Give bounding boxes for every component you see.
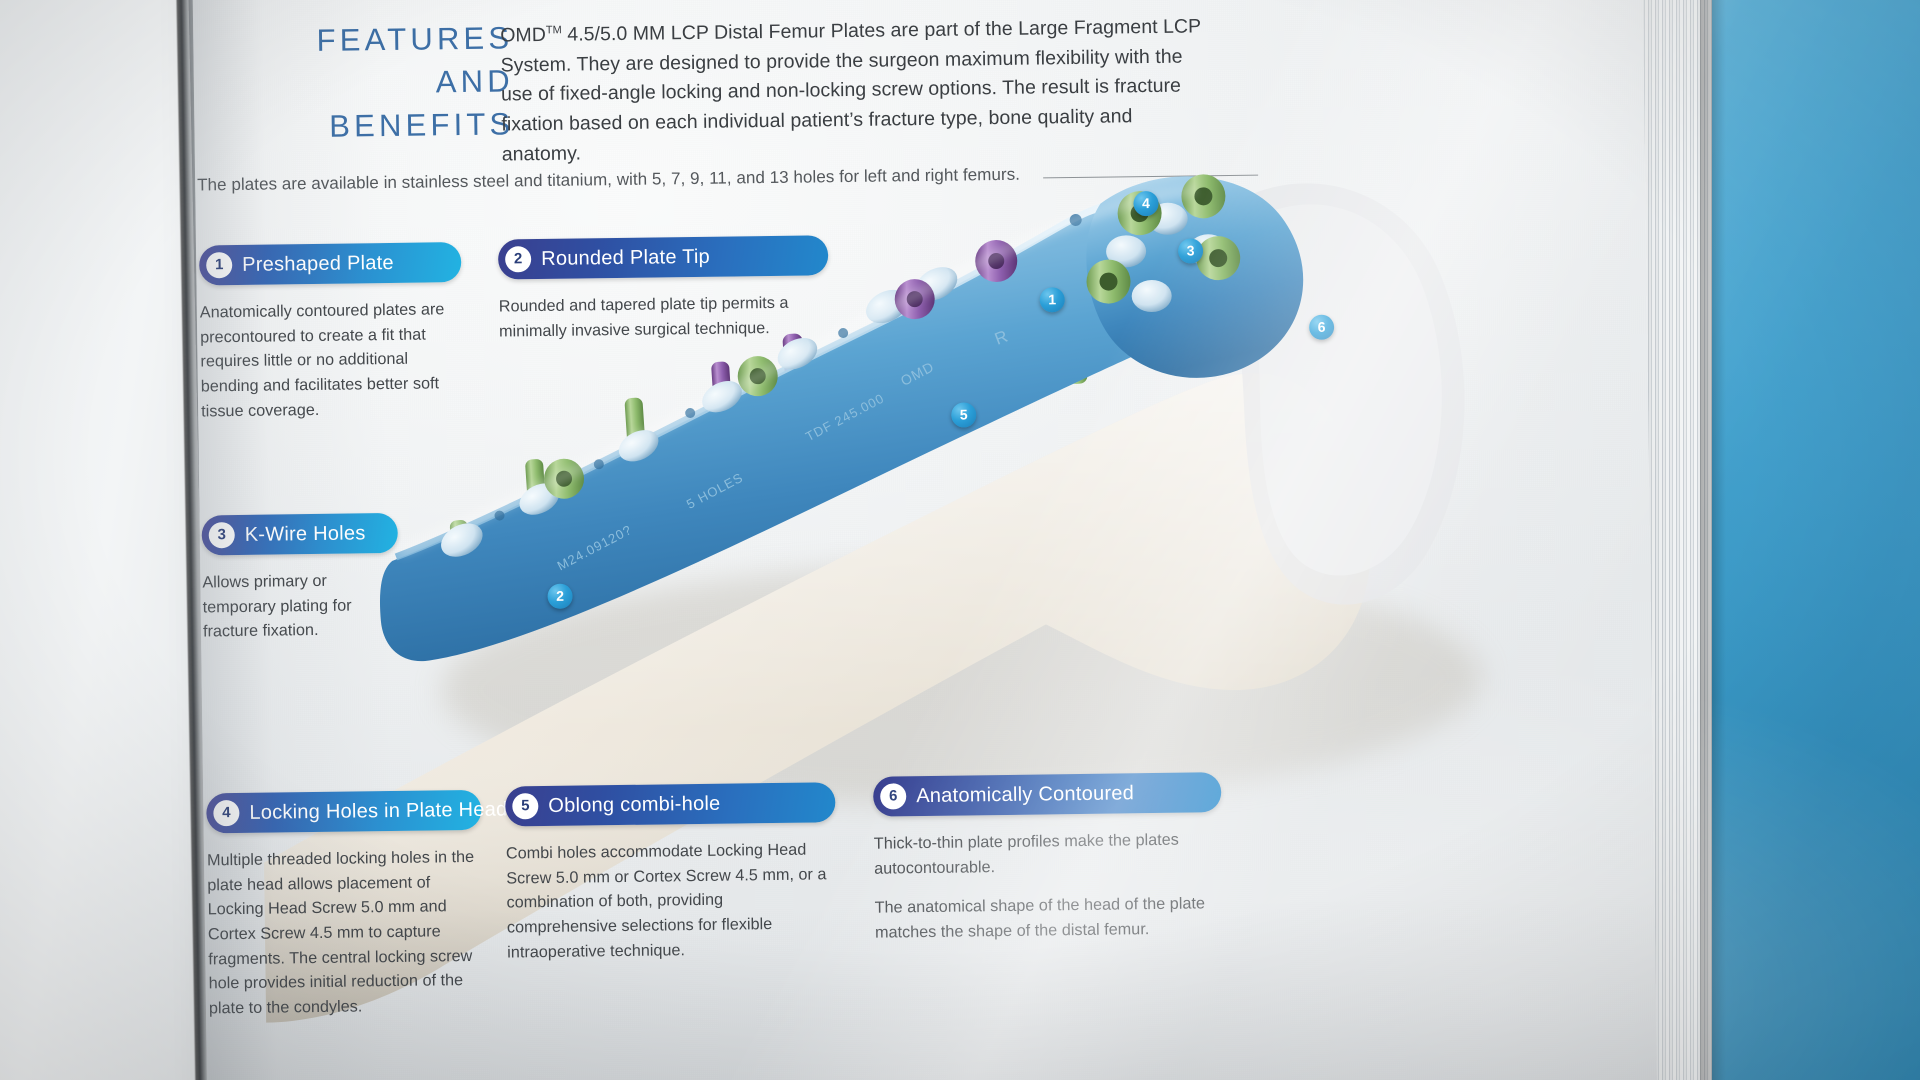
image-marker-5[interactable]: 5: [951, 402, 976, 427]
callout-2-body: Rounded and tapered plate tip permits a …: [499, 290, 818, 343]
callout-4-header[interactable]: 4 Locking Holes in Plate Head: [206, 790, 482, 834]
svg-text:5 HOLES: 5 HOLES: [684, 470, 746, 512]
callout-5-badge: 5: [512, 793, 538, 819]
callout-1: 1 Preshaped Plate Anatomically contoured…: [199, 242, 463, 424]
callout-3-title: K-Wire Holes: [245, 522, 366, 547]
callout-6-badge: 6: [880, 783, 906, 809]
callout-4-paragraph-1: Multiple threaded locking holes in the p…: [207, 845, 477, 1021]
callout-2-header[interactable]: 2 Rounded Plate Tip: [498, 235, 828, 279]
image-marker-6[interactable]: 6: [1309, 315, 1334, 340]
image-marker-4[interactable]: 4: [1133, 191, 1158, 216]
page-title-line-1: FEATURES AND: [228, 17, 514, 106]
callout-5-paragraph-1: Combi holes accommodate Locking Head Scr…: [506, 837, 830, 964]
callout-6-paragraph-1: Thick-to-thin plate profiles make the pl…: [874, 827, 1215, 881]
svg-text:M24.09120?: M24.09120?: [555, 522, 635, 574]
callout-2-title: Rounded Plate Tip: [541, 245, 710, 270]
callout-2-badge: 2: [505, 246, 531, 272]
callout-1-title: Preshaped Plate: [242, 251, 394, 276]
callout-6-paragraph-2: The anatomical shape of the head of the …: [875, 891, 1216, 945]
callout-4: 4 Locking Holes in Plate Head Multiple t…: [206, 790, 484, 1021]
image-marker-2[interactable]: 2: [547, 584, 572, 609]
callout-4-body: Multiple threaded locking holes in the p…: [207, 845, 477, 1021]
callout-3-paragraph-1: Allows primary or temporary plating for …: [202, 568, 403, 644]
callout-3-badge: 3: [209, 522, 235, 548]
callout-1-body: Anatomically contoured plates are precon…: [200, 297, 464, 424]
right-page: FEATURES AND BENEFITS OMDTM 4.5/5.0 MM L…: [192, 0, 1657, 1080]
callout-1-paragraph-1: Anatomically contoured plates are precon…: [200, 297, 464, 424]
svg-text:TDF 245.000: TDF 245.000: [803, 390, 887, 444]
callout-6-title: Anatomically Contoured: [916, 782, 1134, 808]
callout-3-body: Allows primary or temporary plating for …: [202, 568, 403, 644]
image-marker-3[interactable]: 3: [1178, 238, 1203, 263]
right-page-content: FEATURES AND BENEFITS OMDTM 4.5/5.0 MM L…: [192, 0, 1657, 1080]
availability-text: The plates are available in stainless st…: [197, 164, 1077, 196]
callout-4-title: Locking Holes in Plate Head: [249, 798, 507, 824]
product-name: OMD: [500, 24, 546, 47]
intro-body: 4.5/5.0 MM LCP Distal Femur Plates are p…: [500, 15, 1200, 165]
callout-2: 2 Rounded Plate Tip Rounded and tapered …: [498, 235, 829, 344]
callout-6-header[interactable]: 6 Anatomically Contoured: [873, 772, 1221, 817]
callout-6: 6 Anatomically Contoured Thick-to-thin p…: [873, 772, 1223, 945]
callout-6-body: Thick-to-thin plate profiles make the pl…: [874, 827, 1215, 945]
callout-5-body: Combi holes accommodate Locking Head Scr…: [506, 837, 830, 964]
callout-5: 5 Oblong combi-hole Combi holes accommod…: [505, 782, 837, 964]
intro-paragraph: OMDTM 4.5/5.0 MM LCP Distal Femur Plates…: [500, 12, 1212, 169]
callout-1-badge: 1: [206, 252, 232, 278]
callout-5-title: Oblong combi-hole: [548, 792, 720, 817]
callout-3: 3 K-Wire Holes Allows primary or tempora…: [201, 513, 399, 644]
svg-text:R: R: [992, 327, 1010, 349]
page-block-shadow: [1700, 0, 1726, 1080]
svg-text:OMD: OMD: [898, 358, 937, 389]
photo-scene: 6R6L7R7L8R8L9R9L10R10L M24.006-SST.M24.0…: [0, 0, 1920, 1080]
page-title: FEATURES AND BENEFITS: [228, 17, 515, 149]
callout-3-header[interactable]: 3 K-Wire Holes: [201, 513, 398, 556]
image-marker-1[interactable]: 1: [1040, 287, 1065, 312]
page-title-line-2: BENEFITS: [229, 103, 515, 149]
callout-2-paragraph-1: Rounded and tapered plate tip permits a …: [499, 290, 818, 343]
callout-1-header[interactable]: 1 Preshaped Plate: [199, 242, 462, 285]
trademark-symbol: TM: [546, 24, 562, 36]
callout-4-badge: 4: [213, 800, 239, 826]
callout-5-header[interactable]: 5 Oblong combi-hole: [505, 782, 835, 826]
